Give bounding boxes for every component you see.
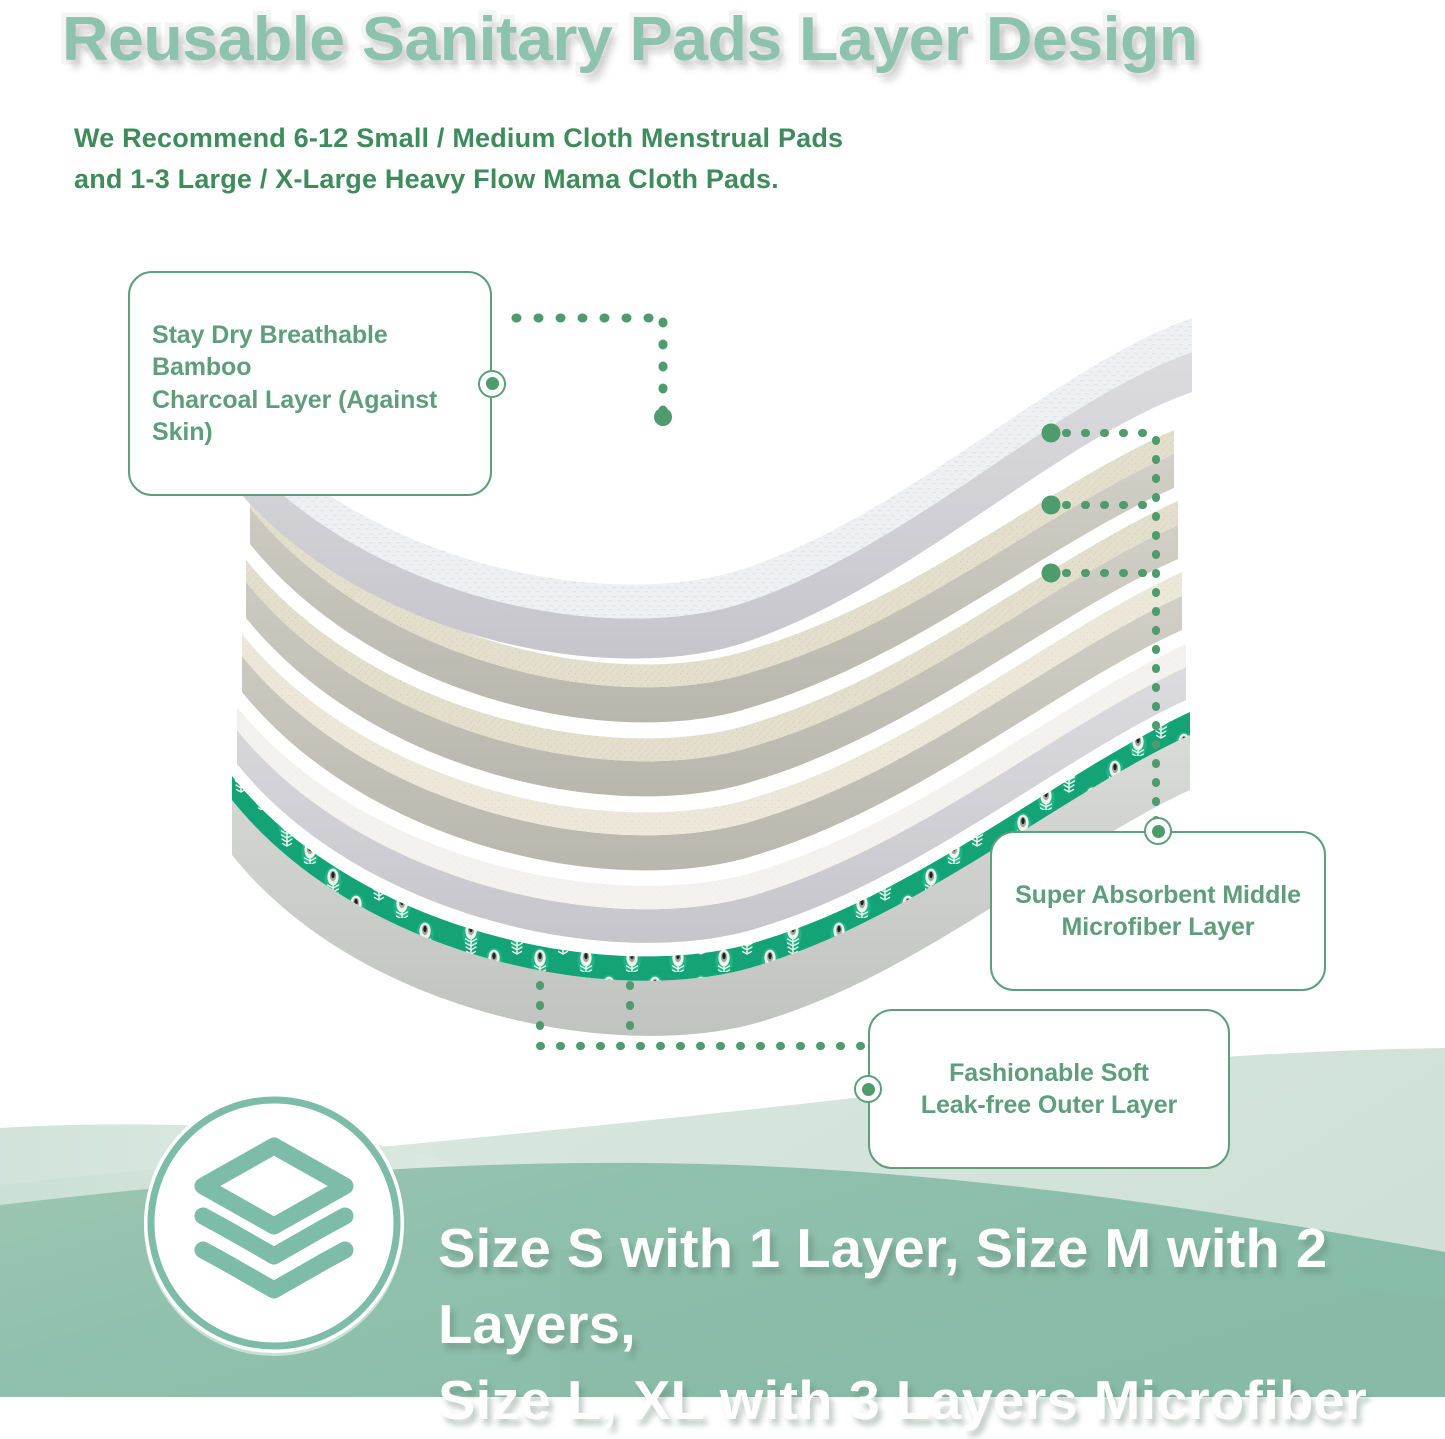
page-title-wrapper: Reusable Sanitary Pads Layer Design (62, 4, 1154, 75)
callout-top-label: Stay Dry Breathable Bamboo Charcoal Laye… (152, 321, 437, 447)
banner-size-layer-text: Size S with 1 Layer, Size M with 2 Layer… (438, 1211, 1445, 1439)
callout-bamboo-charcoal-layer[interactable]: Stay Dry Breathable Bamboo Charcoal Laye… (128, 271, 492, 496)
callout-middle-connector-knob (1144, 817, 1172, 845)
callout-top-connector-knob (478, 370, 506, 398)
page-subtitle: We Recommend 6-12 Small / Medium Cloth M… (74, 118, 843, 200)
callout-leak-free-outer-layer[interactable]: Fashionable Soft Leak-free Outer Layer (868, 1009, 1230, 1169)
callout-bottom-label: Fashionable Soft Leak-free Outer Layer (921, 1059, 1177, 1120)
connector-outer-layer (540, 985, 862, 1046)
page-title: Reusable Sanitary Pads Layer Design (62, 4, 1198, 75)
callout-bottom-connector-knob (854, 1075, 882, 1103)
layers-badge (131, 1080, 417, 1366)
connector-microfiber-layers (1042, 424, 1157, 823)
connector-top-layer (516, 318, 672, 426)
callout-middle-label: Super Absorbent Middle Microfiber Layer (1015, 881, 1301, 942)
callout-super-absorbent-microfiber-layer[interactable]: Super Absorbent Middle Microfiber Layer (990, 831, 1326, 991)
